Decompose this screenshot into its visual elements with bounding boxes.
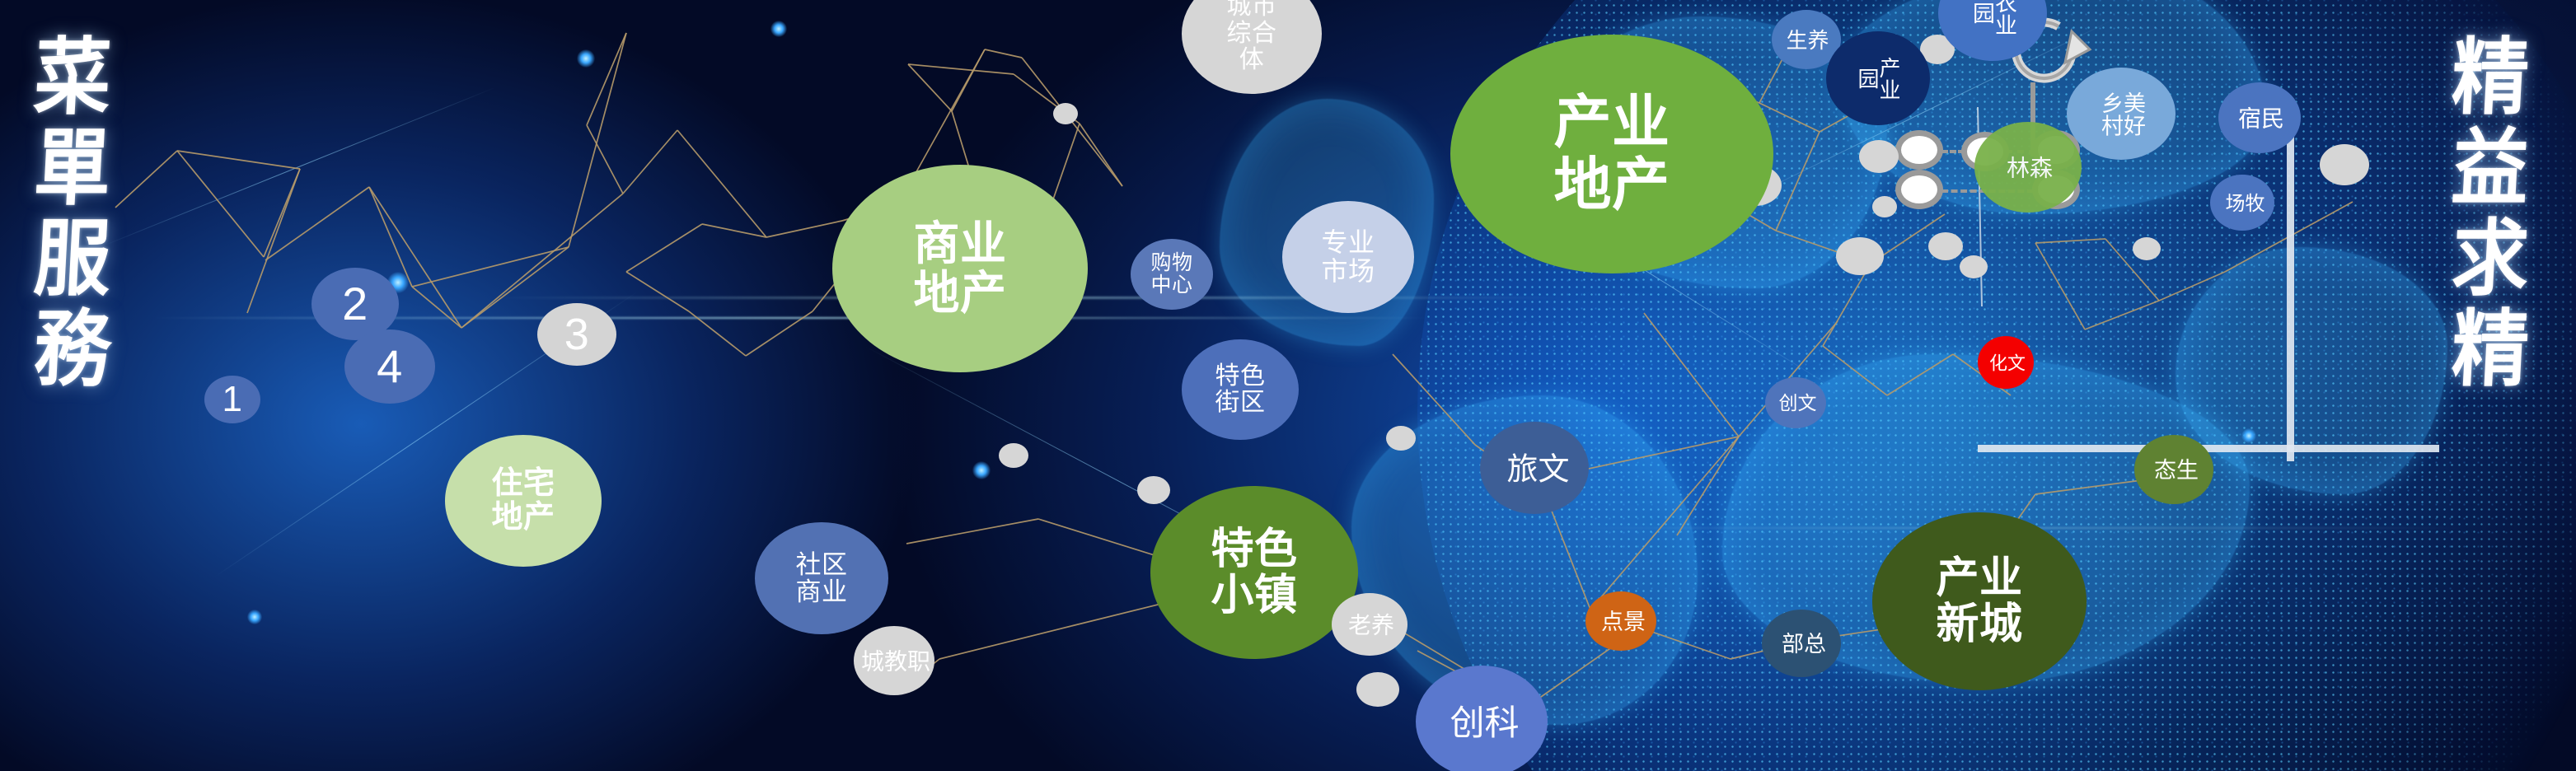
bubble-ranch[interactable]: 牧 场 — [2210, 175, 2274, 231]
bubble-industrial-park-label: 产业 园 — [1857, 57, 1899, 100]
bubble-culture-tourism[interactable]: 文 旅 — [1480, 422, 1589, 514]
bubble-headquarters-label: 总 部 — [1779, 632, 1824, 655]
bubble-homestay[interactable]: 民 宿 — [2218, 82, 2301, 153]
plain-node — [1053, 103, 1078, 124]
crosshair-guide-icon — [1978, 445, 2439, 452]
bubble-residential-real-estate-label: 住宅 地产 — [491, 467, 555, 535]
bubble-professional-market[interactable]: 专业 市场 — [1282, 201, 1414, 313]
bubble-agricultural-park-label: 农业 园 — [1970, 0, 2015, 36]
plain-node — [1872, 196, 1897, 217]
bubble-vocational-education-city-label: 职 教 城 — [859, 649, 929, 673]
node-3[interactable]: 3 — [537, 303, 616, 366]
plain-node — [999, 443, 1028, 468]
bubble-characteristic-town-label: 特色 小镇 — [1211, 526, 1297, 619]
bubble-elderly-care[interactable]: 养 老 — [1332, 593, 1407, 656]
node-2-label: 2 — [342, 279, 368, 329]
bubble-ecology-label: 生 态 — [2152, 458, 2196, 481]
bubble-ranch-label: 牧 场 — [2222, 193, 2262, 213]
node-1[interactable]: 1 — [204, 376, 260, 423]
node-1-label: 1 — [222, 380, 243, 419]
chip-node — [1895, 170, 1943, 209]
bubble-culture[interactable]: 文 化 — [1978, 336, 2034, 389]
bubble-characteristic-town[interactable]: 特色 小镇 — [1150, 486, 1358, 659]
banner-canvas: 菜 單 服 務 精 益 求 精 1 2 3 4 商业 地产 住宅 地产 特色 小… — [0, 0, 2576, 771]
plain-node — [1960, 255, 1988, 278]
node-3-label: 3 — [564, 311, 590, 358]
bubble-culture-label: 文 化 — [1988, 353, 2024, 372]
bubble-culture-tourism-label: 文 旅 — [1503, 452, 1566, 484]
bubble-residential-real-estate[interactable]: 住宅 地产 — [445, 435, 602, 567]
bubble-headquarters[interactable]: 总 部 — [1762, 610, 1841, 677]
bubble-sci-tech-innovation-label: 科 创 — [1447, 704, 1516, 740]
node-4-label: 4 — [377, 342, 403, 391]
plain-node — [1928, 232, 1963, 260]
calligraphy-char: 務 — [31, 297, 114, 404]
plain-node — [1137, 476, 1170, 504]
bubble-homestay-label: 民 宿 — [2236, 106, 2283, 130]
plain-node — [1356, 672, 1399, 707]
bubble-health-preservation-label: 养 生 — [1785, 29, 1828, 51]
bubble-industrial-new-city-label: 产业 新城 — [1936, 555, 2022, 647]
bubble-specialty-street[interactable]: 特色 街区 — [1182, 339, 1299, 440]
bubble-beautiful-countryside[interactable]: 美好 乡村 — [2067, 68, 2176, 160]
chip-node — [1895, 130, 1943, 170]
plain-node — [2133, 237, 2161, 260]
bubble-beautiful-countryside-label: 美好 乡村 — [2099, 91, 2143, 137]
bubble-industrial-real-estate-label: 产业 地产 — [1554, 91, 1670, 216]
plain-node — [1859, 140, 1899, 173]
calligraphy-char: 精 — [2449, 297, 2532, 404]
bubble-vocational-education-city[interactable]: 职 教 城 — [854, 626, 934, 695]
right-calligraphy: 精 益 求 精 — [2441, 33, 2540, 395]
bubble-shopping-center-label: 购物 中心 — [1150, 252, 1192, 297]
bubble-specialty-street-label: 特色 街区 — [1215, 363, 1266, 417]
bubble-industrial-park[interactable]: 产业 园 — [1826, 31, 1930, 125]
bubble-forest-label: 森 林 — [2005, 156, 2051, 180]
bubble-commercial-real-estate-label: 商业 地产 — [914, 219, 1007, 319]
node-4[interactable]: 4 — [344, 329, 435, 404]
bubble-cultural-creative-label: 文 创 — [1777, 393, 1815, 413]
bubble-professional-market-label: 专业 市场 — [1321, 228, 1375, 285]
bubble-forest[interactable]: 森 林 — [1974, 122, 2082, 213]
bubble-sci-tech-innovation[interactable]: 科 创 — [1416, 666, 1548, 771]
bubble-cultural-creative[interactable]: 文 创 — [1765, 377, 1826, 428]
plain-node — [1836, 237, 1884, 275]
plain-node — [2320, 144, 2369, 185]
bubble-elderly-care-label: 养 老 — [1347, 613, 1393, 637]
bubble-commercial-real-estate[interactable]: 商业 地产 — [832, 165, 1088, 372]
bubble-scenic-spot-label: 景 点 — [1599, 610, 1643, 633]
bubble-community-commerce[interactable]: 社区 商业 — [755, 522, 888, 634]
plain-node — [1386, 426, 1416, 451]
bubble-shopping-center[interactable]: 购物 中心 — [1131, 239, 1213, 310]
crosshair-guide-icon — [2287, 132, 2294, 461]
bubble-scenic-spot[interactable]: 景 点 — [1585, 591, 1656, 651]
bubble-community-commerce-label: 社区 商业 — [796, 551, 848, 606]
bubble-ecology[interactable]: 生 态 — [2134, 435, 2213, 504]
left-calligraphy: 菜 單 服 務 — [23, 33, 122, 395]
bubble-industrial-new-city[interactable]: 产业 新城 — [1872, 512, 2087, 690]
chip-connector — [1941, 150, 1965, 153]
bubble-urban-complex-label: 城市 综合 体 — [1227, 0, 1277, 74]
bubble-industrial-real-estate[interactable]: 产业 地产 — [1450, 35, 1773, 273]
